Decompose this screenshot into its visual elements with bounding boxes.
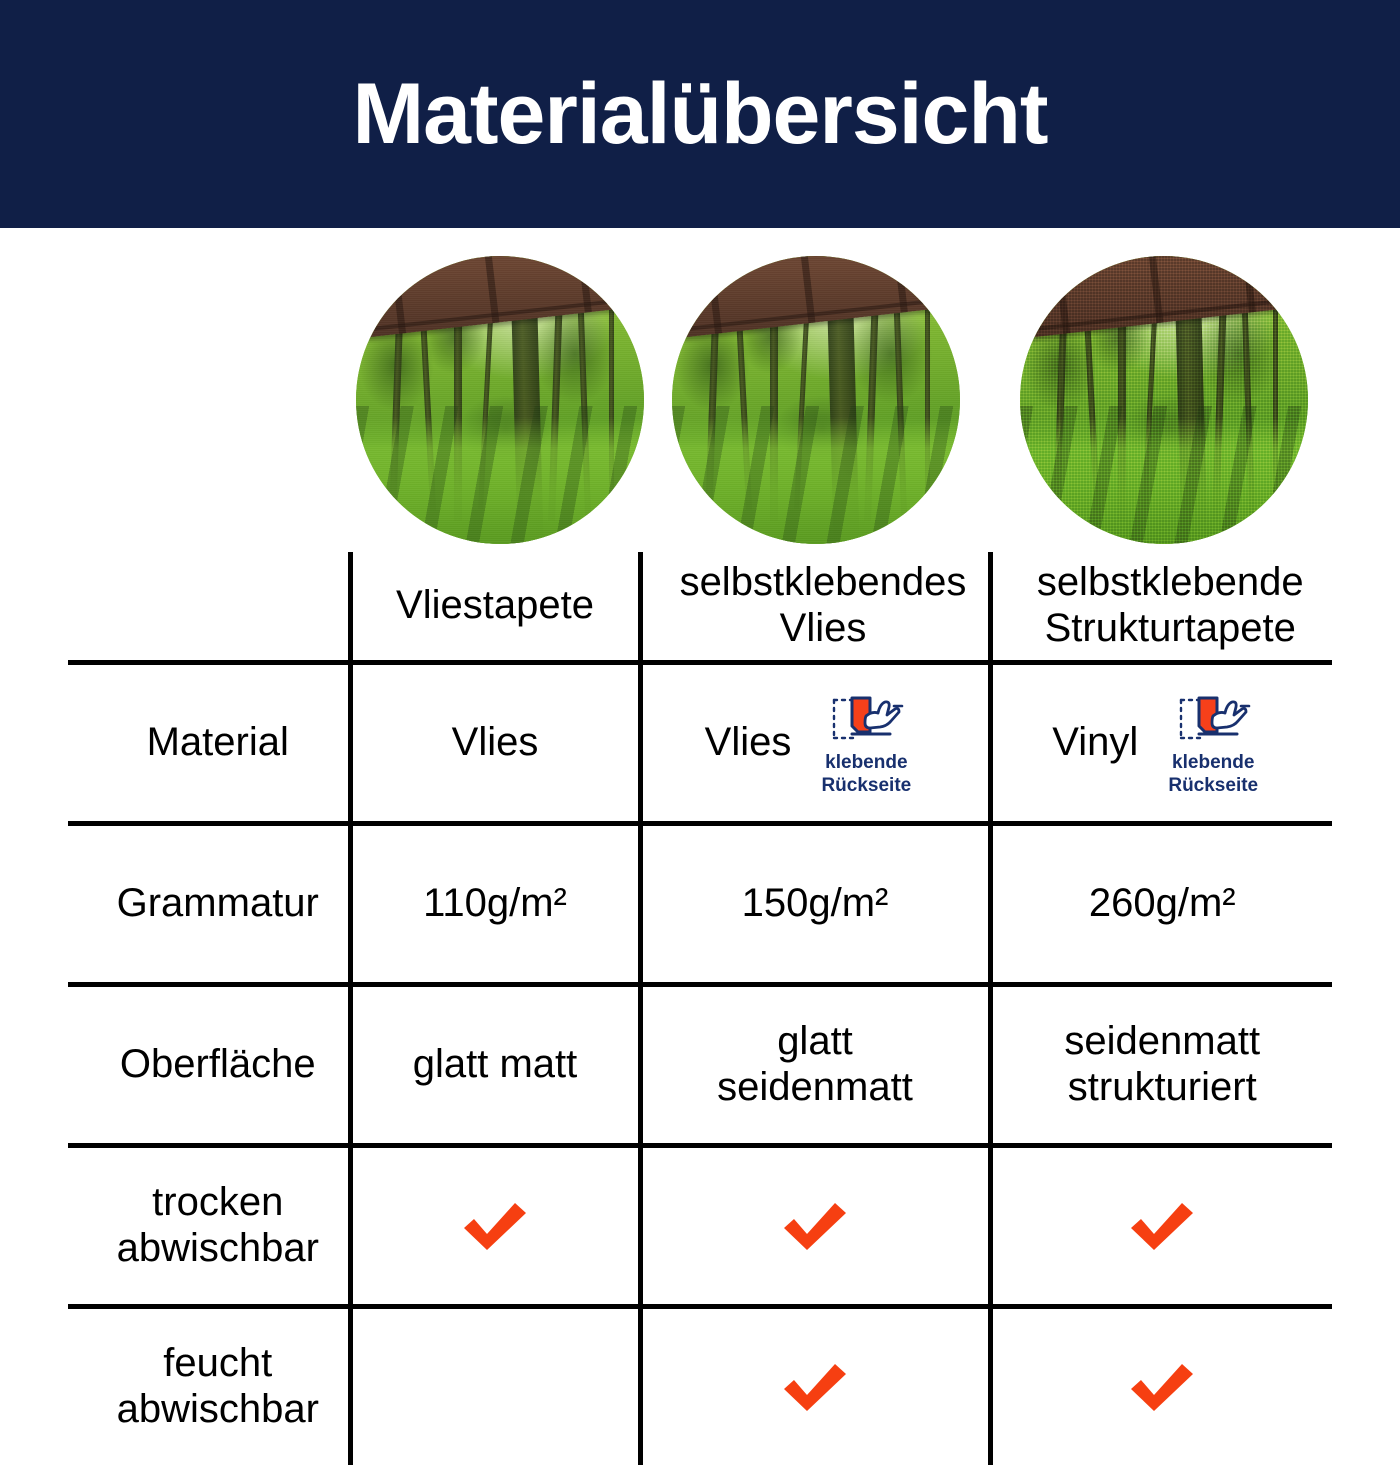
smooth-matt-texture: [356, 256, 644, 544]
cell-value: 150g/m²: [742, 881, 889, 927]
silk-matt-texture: [672, 256, 960, 544]
checkmark-icon: [643, 1358, 988, 1416]
cell-value: Vlies: [452, 720, 539, 766]
cell-grammatur-selbstklebende-strukturtapete: 260g/m²: [990, 824, 1332, 985]
forest-scene: [672, 256, 960, 544]
table-row: Grammatur 110g/m² 150g/m² 260g/m²: [68, 824, 1332, 985]
cell-feucht-selbstklebende-strukturtapete: [990, 1307, 1332, 1465]
badge-label-line1: klebende: [825, 752, 907, 773]
cell-value: glatt seidenmatt: [717, 1019, 913, 1110]
cell-value: seidenmatt strukturiert: [1064, 1019, 1260, 1110]
swatch-selbstklebende-strukturtapete[interactable]: [1020, 256, 1308, 544]
checkmark-icon: [353, 1197, 638, 1255]
cell-oberflaeche-selbstklebende-strukturtapete: seidenmatt strukturiert: [990, 985, 1332, 1146]
cell-value: glatt matt: [413, 1042, 578, 1088]
klebende-rueckseite-badge: klebende Rückseite: [807, 690, 925, 797]
table-header-row: Vliestapete selbstklebendes Vlies selbst…: [68, 552, 1332, 663]
cell-value: 260g/m²: [1089, 881, 1236, 927]
cell-oberflaeche-vliestapete: glatt matt: [350, 985, 640, 1146]
table-corner-cell: [68, 552, 350, 663]
swatch-vliestapete[interactable]: [356, 256, 644, 544]
page-title: Materialübersicht: [352, 71, 1047, 157]
peel-adhesive-backing-icon: [826, 690, 906, 750]
cell-value: 110g/m²: [423, 881, 567, 927]
badge-label-line2: Rückseite: [821, 775, 911, 796]
column-header-selbstklebende-strukturtapete: selbstklebende Strukturtapete: [990, 552, 1332, 663]
forest-scene: [356, 256, 644, 544]
table-row: feucht abwischbar: [68, 1307, 1332, 1465]
peel-adhesive-backing-icon: [1173, 690, 1253, 750]
cell-trocken-vliestapete: [350, 1146, 640, 1307]
table-row: Oberfläche glatt matt glatt seidenmatt s…: [68, 985, 1332, 1146]
badge-label-line1: klebende: [1172, 752, 1254, 773]
checkmark-icon: [993, 1197, 1333, 1255]
klebende-rueckseite-badge: klebende Rückseite: [1154, 690, 1272, 797]
cell-material-selbstklebende-strukturtapete: Vinyl: [990, 663, 1332, 824]
cell-trocken-selbstklebende-strukturtapete: [990, 1146, 1332, 1307]
swatch-selbstklebendes-vlies[interactable]: [672, 256, 960, 544]
row-label-grammatur: Grammatur: [68, 824, 350, 985]
cell-value: Vlies: [705, 720, 792, 766]
page-header-banner: Materialübersicht: [0, 0, 1400, 228]
cell-value: Vinyl: [1052, 720, 1138, 766]
checkmark-icon: [993, 1358, 1333, 1416]
cell-grammatur-selbstklebendes-vlies: 150g/m²: [640, 824, 990, 985]
column-header-selbstklebendes-vlies: selbstklebendes Vlies: [640, 552, 990, 663]
cell-grammatur-vliestapete: 110g/m²: [350, 824, 640, 985]
cell-feucht-selbstklebendes-vlies: [640, 1307, 990, 1465]
cell-trocken-selbstklebendes-vlies: [640, 1146, 990, 1307]
row-label-oberflaeche: Oberfläche: [68, 985, 350, 1146]
checkmark-icon: [643, 1197, 988, 1255]
cell-oberflaeche-selbstklebendes-vlies: glatt seidenmatt: [640, 985, 990, 1146]
badge-label-line2: Rückseite: [1168, 775, 1258, 796]
column-header-vliestapete: Vliestapete: [350, 552, 640, 663]
row-label-material: Material: [68, 663, 350, 824]
row-label-trocken-abwischbar: trocken abwischbar: [68, 1146, 350, 1307]
forest-scene: [1020, 256, 1308, 544]
cell-feucht-vliestapete: [350, 1307, 640, 1465]
table-row: trocken abwischbar: [68, 1146, 1332, 1307]
structured-surface-texture: [1020, 256, 1308, 544]
material-comparison-table: Vliestapete selbstklebendes Vlies selbst…: [68, 552, 1332, 1465]
cell-material-vliestapete: Vlies: [350, 663, 640, 824]
row-label-feucht-abwischbar: feucht abwischbar: [68, 1307, 350, 1465]
cell-material-selbstklebendes-vlies: Vlies: [640, 663, 990, 824]
material-swatch-row: [0, 250, 1400, 550]
table-row: Material Vlies Vlies: [68, 663, 1332, 824]
